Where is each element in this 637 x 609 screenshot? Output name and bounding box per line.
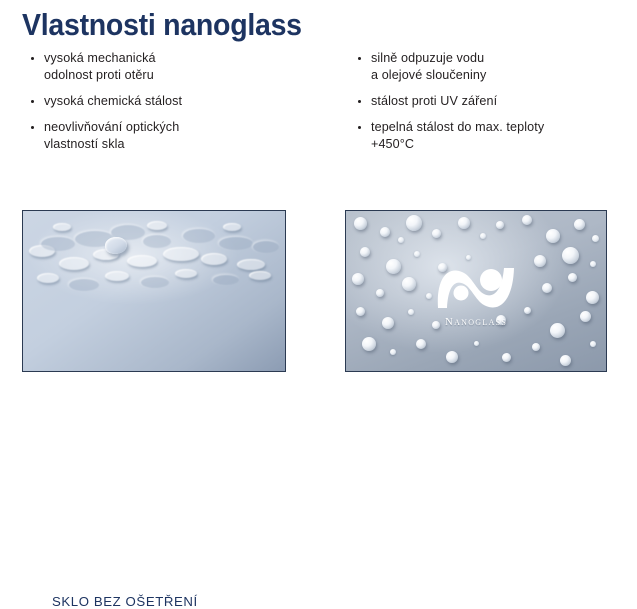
figure-untreated-glass: SKLO BEZ OŠETŘENÍ [22, 210, 286, 372]
feature-column-right: silně odpuzuje vodu a olejové sloučeniny… [357, 50, 632, 162]
bullet-dot-icon [31, 126, 34, 129]
page-title: Vlastnosti nanoglass [22, 6, 302, 44]
list-item: stálost proti UV záření [357, 93, 632, 110]
list-item: tepelná stálost do max. teploty +450°C [357, 119, 632, 153]
treated-glass-photo: Nanoglass [345, 210, 607, 372]
bullet-dot-icon [31, 57, 34, 60]
slide-root: Vlastnosti nanoglass vysoká mechanická o… [0, 0, 637, 412]
figure-treated-glass: Nanoglass SKLO S TECHNOLOGIÍ [345, 210, 607, 372]
nanoglass-logo: Nanoglass [420, 260, 532, 328]
bullet-dot-icon [358, 126, 361, 129]
feature-columns: vysoká mechanická odolnost proti otěru v… [0, 50, 637, 195]
bullet-dot-icon [358, 57, 361, 60]
untreated-glass-photo [22, 210, 286, 372]
feature-column-left: vysoká mechanická odolnost proti otěru v… [30, 50, 330, 162]
feature-list-left: vysoká mechanická odolnost proti otěru v… [30, 50, 330, 153]
bullet-dot-icon [31, 100, 34, 103]
list-item-label: vysoká mechanická odolnost proti otěru [44, 50, 330, 84]
list-item: silně odpuzuje vodu a olejové sloučeniny [357, 50, 632, 84]
water-drop-shape [105, 237, 127, 254]
feature-list-right: silně odpuzuje vodu a olejové sloučeniny… [357, 50, 632, 153]
list-item-label: vysoká chemická stálost [44, 93, 330, 110]
list-item: neovlivňování optických vlastností skla [30, 119, 330, 153]
list-item-label: tepelná stálost do max. teploty +450°C [371, 119, 632, 153]
bullet-dot-icon [358, 100, 361, 103]
list-item-label: silně odpuzuje vodu a olejové sloučeniny [371, 50, 632, 84]
figure-caption-untreated: SKLO BEZ OŠETŘENÍ [52, 594, 198, 609]
list-item: vysoká chemická stálost [30, 93, 330, 110]
list-item-label: stálost proti UV záření [371, 93, 632, 110]
list-item-label: neovlivňování optických vlastností skla [44, 119, 330, 153]
list-item: vysoká mechanická odolnost proti otěru [30, 50, 330, 84]
